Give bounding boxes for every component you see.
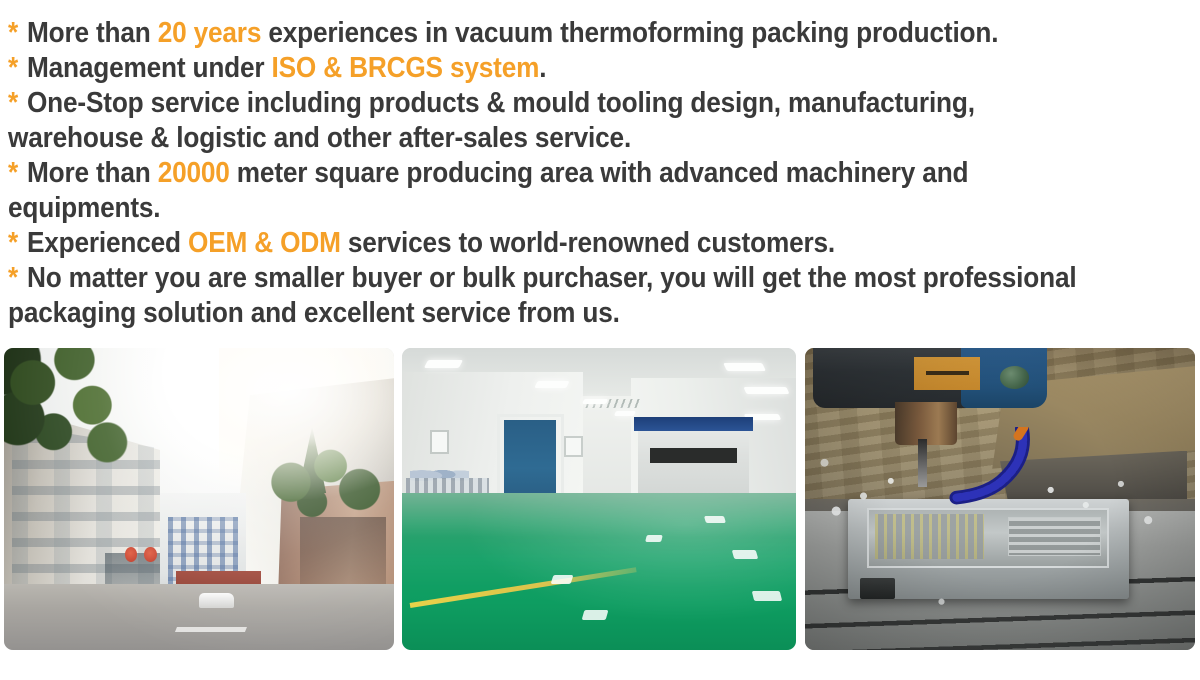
machine-top-bar xyxy=(634,417,752,431)
feature-text: Management under ISO & BRCGS system. xyxy=(27,52,546,84)
company-photo-gallery xyxy=(0,348,1200,654)
company-features-list: * More than 20 years experiences in vacu… xyxy=(8,16,1097,331)
feature-highlight: OEM & ODM xyxy=(188,227,341,259)
feature-text: More than 20000 meter square producing a… xyxy=(8,157,968,224)
feature-item-buyer-scale: * No matter you are smaller buyer or bul… xyxy=(8,261,1097,331)
bullet-icon: * xyxy=(8,52,20,84)
feature-text: No matter you are smaller buyer or bulk … xyxy=(8,262,1076,329)
feature-segment: More than xyxy=(27,17,158,49)
feature-segment: experiences in vacuum thermoforming pack… xyxy=(261,17,998,49)
ceiling-light xyxy=(424,360,464,368)
feature-text: One-Stop service including products & mo… xyxy=(8,87,975,154)
feature-item-experience: * More than 20 years experiences in vacu… xyxy=(8,16,1097,51)
bullet-icon: * xyxy=(8,157,20,189)
feature-segment: services to world-renowned customers. xyxy=(341,227,835,259)
ceiling-light xyxy=(723,363,766,371)
vignette-overlay xyxy=(805,348,1195,650)
feature-segment: Management under xyxy=(27,52,272,84)
ceiling-light xyxy=(614,411,636,416)
ceiling-light xyxy=(743,387,790,394)
bullet-icon: * xyxy=(8,87,20,119)
wall-panel xyxy=(564,436,584,457)
haze-overlay xyxy=(4,348,394,650)
feature-item-producing-area: * More than 20000 meter square producing… xyxy=(8,156,1097,226)
feature-segment: . xyxy=(539,52,546,84)
feature-segment: More than xyxy=(27,157,158,189)
machine-dark-section xyxy=(650,448,737,463)
bullet-icon: * xyxy=(8,227,20,259)
feature-segment: Experienced xyxy=(27,227,188,259)
floor-gloss-overlay xyxy=(402,493,796,650)
cleanroom-scene xyxy=(402,348,796,650)
feature-item-one-stop-service: * One-Stop service including products & … xyxy=(8,86,1097,156)
ceiling-light xyxy=(582,399,608,404)
feature-text: More than 20 years experiences in vacuum… xyxy=(27,17,998,49)
feature-highlight: 20 years xyxy=(158,17,262,49)
bullet-icon: * xyxy=(8,262,20,294)
cnc-machining-scene xyxy=(805,348,1195,650)
feature-item-oem-odm: * Experienced OEM & ODM services to worl… xyxy=(8,226,1097,261)
feature-item-management: * Management under ISO & BRCGS system. xyxy=(8,51,1097,86)
cleanroom-workshop-photo xyxy=(402,348,796,650)
wall-panel xyxy=(430,430,450,454)
bullet-icon: * xyxy=(8,17,20,49)
factory-campus-exterior-photo xyxy=(4,348,394,650)
cnc-mould-machining-photo xyxy=(805,348,1195,650)
ceiling-light xyxy=(534,381,569,388)
feature-highlight: ISO & BRCGS system xyxy=(272,52,540,84)
feature-highlight: 20000 xyxy=(158,157,230,189)
factory-exterior-scene xyxy=(4,348,394,650)
feature-text: Experienced OEM & ODM services to world-… xyxy=(27,227,835,259)
